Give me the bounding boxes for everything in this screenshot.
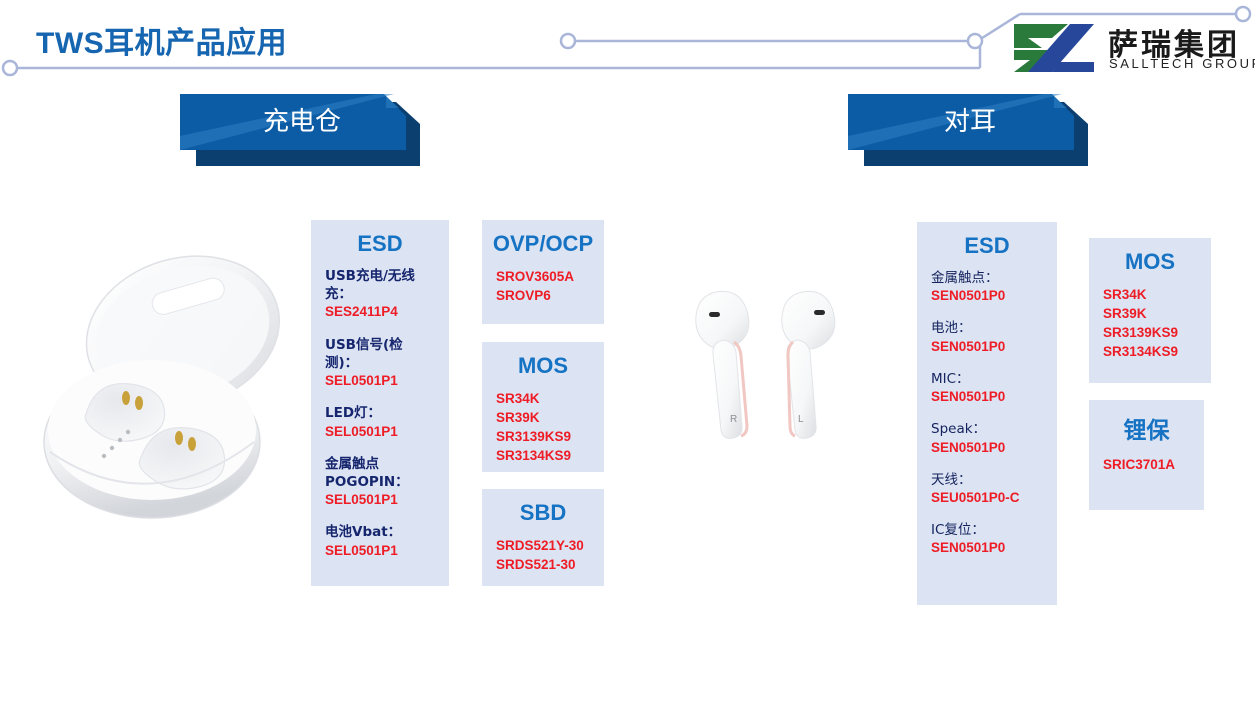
card-title-sbd: SBD (482, 500, 604, 526)
entry-value: SEL0501P1 (325, 372, 435, 390)
entry: USB充电/无线充： SES2411P4 (325, 267, 435, 322)
card-sbd: SBD SRDS521Y-30 SRDS521-30 (482, 489, 604, 586)
entry-value: SEU0501P0-C (931, 489, 1043, 507)
value-line: SR39K (496, 408, 590, 427)
card-mos-earbuds: MOS SR34K SR39K SR3139KS9 SR3134KS9 (1089, 238, 1211, 383)
deco-node-mid-left (561, 34, 575, 48)
value-line: SR3134KS9 (1103, 342, 1197, 361)
entry-label: LED灯： (325, 404, 435, 422)
entry-value: SEL0501P1 (325, 491, 435, 509)
entry: USB信号(检测)： SEL0501P1 (325, 336, 435, 391)
card-title-esd-earbuds: ESD (917, 233, 1057, 259)
entry-label: USB信号(检测)： (325, 336, 435, 372)
entry-value: SES2411P4 (325, 303, 435, 321)
charging-case-photo (34, 246, 286, 536)
value-line: SRDS521Y-30 (496, 536, 590, 555)
value-line: SR3139KS9 (1103, 323, 1197, 342)
section-ribbon-earbuds: 对耳 (848, 94, 1092, 166)
company-logo: 萨瑞集团 SALLTECH GROUP (1008, 22, 1248, 74)
page-title: TWS耳机产品应用 (36, 18, 287, 62)
card-title-esd-case: ESD (311, 231, 449, 257)
card-esd-earbuds: ESD 金属触点： SEN0501P0 电池： SEN0501P0 MIC： S… (917, 222, 1057, 605)
value-line: SR34K (1103, 285, 1197, 304)
card-title-mos-earbuds: MOS (1089, 249, 1211, 275)
entry-label: Speak： (931, 420, 1043, 438)
entry: LED灯： SEL0501P1 (325, 404, 435, 440)
deco-node-left (3, 61, 17, 75)
card-values-libao: SRIC3701A (1089, 455, 1204, 474)
card-ovp-ocp: OVP/OCP SROV3605A SROVP6 (482, 220, 604, 324)
earbud-mark-left: L (798, 414, 804, 425)
earbuds-photo: R L (672, 282, 872, 458)
entry-label: MIC： (931, 370, 1043, 388)
card-title-ovp-ocp: OVP/OCP (482, 231, 604, 257)
entry-label: IC复位： (931, 521, 1043, 539)
card-body-esd-earbuds: 金属触点： SEN0501P0 电池： SEN0501P0 MIC： SEN05… (917, 269, 1057, 558)
earbud-right: R (696, 291, 749, 438)
value-line: SRIC3701A (1103, 455, 1190, 474)
section-label-charging-case: 充电仓 (180, 94, 424, 150)
entry: 电池Vbat： SEL0501P1 (325, 523, 435, 559)
earbud-left: L (782, 291, 835, 438)
value-line: SROV3605A (496, 267, 590, 286)
entry: 金属触点 POGOPIN： SEL0501P1 (325, 455, 435, 510)
deco-node-right (1236, 7, 1250, 21)
card-title-mos-case: MOS (482, 353, 604, 379)
entry-value: SEL0501P1 (325, 542, 435, 560)
card-values-ovp-ocp: SROV3605A SROVP6 (482, 267, 604, 305)
section-ribbon-charging-case: 充电仓 (180, 94, 424, 166)
card-esd-case: ESD USB充电/无线充： SES2411P4 USB信号(检测)： SEL0… (311, 220, 449, 586)
entry-label: USB充电/无线充： (325, 267, 435, 303)
entry-value: SEL0501P1 (325, 423, 435, 441)
entry-value: SEN0501P0 (931, 287, 1043, 305)
card-title-libao: 锂保 (1089, 411, 1204, 445)
value-line: SR3139KS9 (496, 427, 590, 446)
logo-name-en: SALLTECH GROUP (1109, 56, 1255, 71)
entry-value: SEN0501P0 (931, 388, 1043, 406)
card-body-esd-case: USB充电/无线充： SES2411P4 USB信号(检测)： SEL0501P… (311, 267, 449, 560)
entry-value: SEN0501P0 (931, 439, 1043, 457)
entry: 天线： SEU0501P0-C (931, 471, 1043, 507)
entry: Speak： SEN0501P0 (931, 420, 1043, 456)
section-label-earbuds: 对耳 (848, 94, 1092, 150)
value-line: SR34K (496, 389, 590, 408)
card-values-sbd: SRDS521Y-30 SRDS521-30 (482, 536, 604, 574)
entry: MIC： SEN0501P0 (931, 370, 1043, 406)
card-values-mos-case: SR34K SR39K SR3139KS9 SR3134KS9 (482, 389, 604, 466)
value-line: SR39K (1103, 304, 1197, 323)
entry: 电池： SEN0501P0 (931, 319, 1043, 355)
entry-label: 金属触点 POGOPIN： (325, 455, 435, 491)
entry-label: 电池Vbat： (325, 523, 435, 541)
entry: 金属触点： SEN0501P0 (931, 269, 1043, 305)
entry-value: SEN0501P0 (931, 338, 1043, 356)
entry-label: 电池： (931, 319, 1043, 337)
card-values-mos-earbuds: SR34K SR39K SR3139KS9 SR3134KS9 (1089, 285, 1211, 362)
entry-label: 天线： (931, 471, 1043, 489)
entry-value: SEN0501P0 (931, 539, 1043, 557)
deco-node-mid-right (968, 34, 982, 48)
earbud-mark-right: R (730, 414, 737, 425)
value-line: SR3134KS9 (496, 446, 590, 465)
card-mos-case: MOS SR34K SR39K SR3139KS9 SR3134KS9 (482, 342, 604, 472)
entry-label: 金属触点： (931, 269, 1043, 287)
entry: IC复位： SEN0501P0 (931, 521, 1043, 557)
salltech-logo-mark (1008, 22, 1100, 74)
value-line: SROVP6 (496, 286, 590, 305)
value-line: SRDS521-30 (496, 555, 590, 574)
card-libao: 锂保 SRIC3701A (1089, 400, 1204, 510)
